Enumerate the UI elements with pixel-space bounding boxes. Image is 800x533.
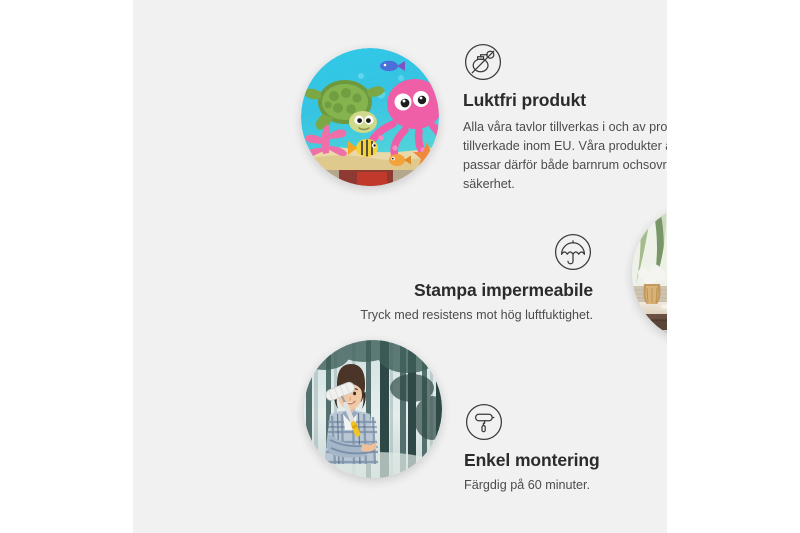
umbrella-icon	[553, 232, 593, 272]
bathroom-vanity-tropical-wallpaper-photo	[632, 204, 667, 342]
feature-body: Alla våra tavlor tillverkas i och av pro…	[463, 118, 667, 195]
content-panel: Luktfri produkt Alla våra tavlor tillver…	[133, 0, 667, 533]
decorator-with-roller-forest-wallpaper-photo	[304, 340, 442, 478]
infographic-screenshot: Luktfri produkt Alla våra tavlor tillver…	[0, 0, 800, 533]
no-fragrance-icon	[463, 42, 503, 82]
feature-title: Enkel montering	[464, 450, 667, 472]
feature-waterproof: Stampa impermeabile Tryck med resistens …	[293, 232, 593, 325]
feature-odourless: Luktfri produkt Alla våra tavlor tillver…	[463, 42, 667, 194]
feature-title: Stampa impermeabile	[293, 280, 593, 302]
feature-body: Tryck med resistens mot hög luftfuktighe…	[293, 306, 593, 325]
paint-roller-icon	[464, 402, 504, 442]
feature-easy-mounting: Enkel montering Färgdig på 60 minuter.	[464, 402, 667, 495]
underwater-cartoon-mural-photo	[301, 48, 439, 186]
feature-title: Luktfri produkt	[463, 90, 667, 112]
feature-body: Färgdig på 60 minuter.	[464, 476, 667, 495]
